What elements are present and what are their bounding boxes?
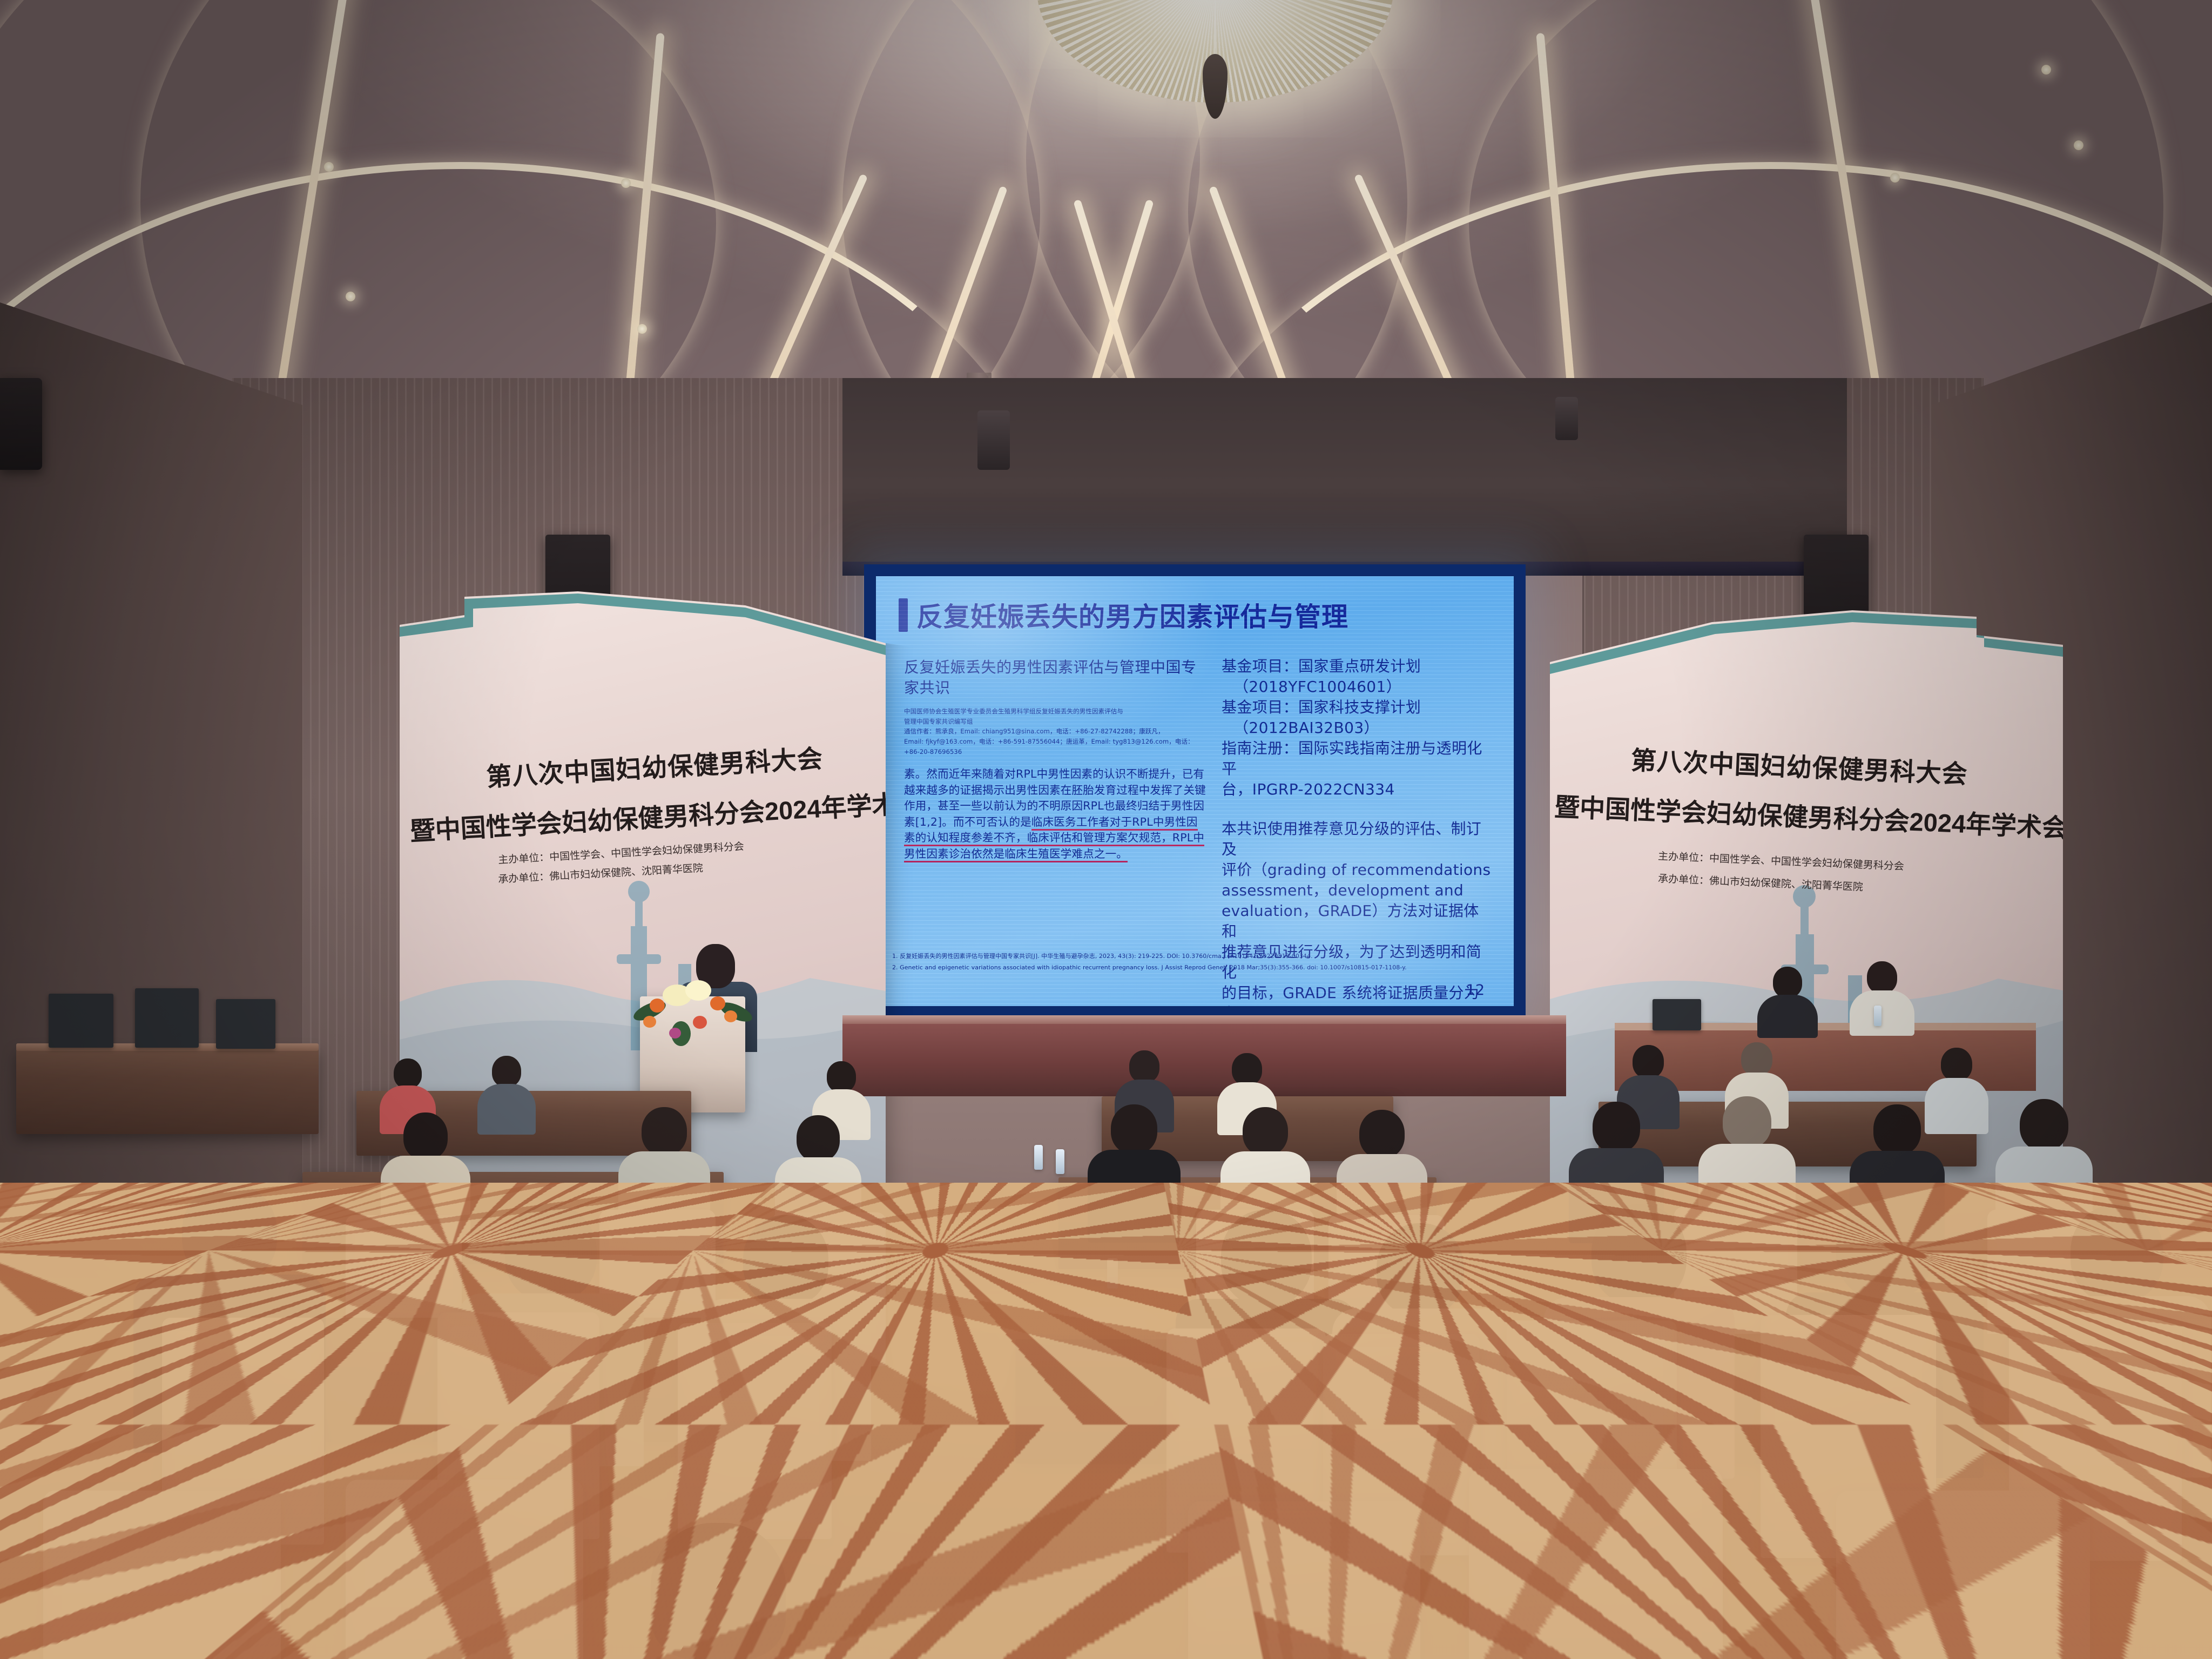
chandelier-pendant-drop (1203, 54, 1228, 119)
flower-bloom (693, 1016, 707, 1029)
flower-bloom (710, 996, 725, 1010)
grade-line: assessment，development and (1222, 880, 1492, 901)
head (1221, 1210, 1312, 1306)
water-bottle (1874, 1006, 1881, 1026)
head (1941, 1048, 1972, 1081)
presentation-slide: 反复妊娠丢失的男方因素评估与管理 反复妊娠丢失的男性因素评估与管理中国专家共识 … (876, 576, 1514, 1006)
flower-bloom (643, 1016, 656, 1028)
chair-foreground[interactable] (1188, 1501, 1420, 1659)
stage-edge (842, 1015, 1566, 1024)
affiliation-line: +86-20-87696536 (904, 747, 1206, 757)
chairperson (1847, 961, 1917, 1031)
affiliation-block: 中国医师协会生殖医学专业委员会生殖男科学组反复妊娠丢失的男性因素评估与 管理中国… (904, 706, 1206, 757)
ceiling-downlight (2041, 65, 2051, 75)
head (797, 1115, 840, 1162)
slide-left-column: 反复妊娠丢失的男性因素评估与管理中国专家共识 中国医师协会生殖医学专业委员会生殖… (904, 657, 1206, 862)
head (1836, 1196, 1933, 1300)
head (1232, 1053, 1262, 1085)
reference-item: 1. 反复妊娠丢失的男性因素评估与管理中国专家共识[J]. 中华生殖与避孕杂志,… (892, 951, 1497, 962)
stage-platform (842, 1015, 1566, 1096)
funding-line: 基金项目：国家科技支撑计划 (1222, 697, 1492, 718)
head (1873, 1104, 1921, 1155)
head (182, 1183, 277, 1283)
stage-soffit (842, 378, 1847, 572)
laptop (49, 994, 113, 1048)
slide-title-row: 反复妊娠丢失的男方因素评估与管理 (899, 596, 1348, 634)
reference-item: 2. Genetic and epigenetic variations ass… (892, 962, 1497, 974)
audience-member-closest (605, 1523, 832, 1659)
laptop (135, 988, 199, 1048)
chair-foreground[interactable] (1469, 1469, 1723, 1659)
head (1377, 1223, 1464, 1316)
water-bottle (1034, 1145, 1043, 1170)
head (394, 1058, 422, 1089)
torso (1088, 1150, 1181, 1243)
head (1129, 1050, 1159, 1083)
water-bottle (1107, 1258, 1118, 1289)
consensus-heading: 反复妊娠丢失的男性因素评估与管理中国专家共识 (904, 657, 1206, 698)
affiliation-line: Email: fjkyf@163.com，电话：+86-591-87556044… (904, 737, 1206, 747)
head (1593, 1102, 1640, 1152)
registration-line: 台，IPGRP-2022CN334 (1222, 779, 1492, 800)
head (651, 1523, 786, 1659)
head (1111, 1104, 1157, 1154)
ceiling-downlight (1890, 173, 1900, 183)
chairperson-head (1867, 961, 1897, 994)
head (743, 1215, 828, 1306)
head (505, 1204, 597, 1301)
grade-line: 的目标，GRADE 系统将证据质量分为高 (1222, 983, 1492, 1006)
flower-bloom (685, 980, 711, 1001)
head (1741, 1042, 1772, 1076)
audience-member (1085, 1104, 1183, 1237)
grade-line: 评价（grading of recommendations (1222, 860, 1492, 880)
head (1243, 1107, 1288, 1156)
torso (477, 1084, 536, 1135)
ceiling-downlight (324, 162, 334, 172)
water-bottle (1056, 1149, 1064, 1174)
flower-bloom (669, 1028, 681, 1038)
head (403, 1112, 448, 1160)
consensus-body-text: 素。然而近年来随着对RPL中男性因素的认识不断提升，已有越来越多的证据揭示出男性… (904, 766, 1206, 862)
title-accent-bar (899, 598, 908, 632)
slide-page-number: 12 (1466, 982, 1485, 999)
name-card (1653, 999, 1701, 1030)
chairperson (1755, 967, 1820, 1031)
slide-title: 反复妊娠丢失的男方因素评估与管理 (916, 596, 1348, 634)
head (1633, 1045, 1664, 1078)
chair[interactable] (678, 1323, 832, 1539)
funding-line: （2018YFC1004601） (1222, 677, 1492, 697)
ceiling-downlight (346, 292, 355, 301)
head (1723, 1096, 1771, 1148)
registration-line: 指南注册：国际实践指南注册与透明化平 (1222, 738, 1492, 779)
head (1359, 1110, 1405, 1158)
head (492, 1056, 521, 1087)
head (2020, 1099, 2068, 1151)
affiliation-line: 通信作者：熊承良，Email: chiang951@sina.com，电话：+8… (904, 726, 1206, 737)
monitor (216, 999, 275, 1049)
chairperson-head (1773, 967, 1802, 998)
projection-screen: 反复妊娠丢失的男方因素评估与管理 反复妊娠丢失的男性因素评估与管理中国专家共识 … (864, 564, 1526, 1018)
head (1591, 1204, 1687, 1305)
affiliation-line: 中国医师协会生殖医学专业委员会生殖男科学组反复妊娠丢失的男性因素评估与 (904, 706, 1206, 717)
grade-line: evaluation，GRADE）方法对证据体和 (1222, 901, 1492, 942)
grade-line: 本共识使用推荐意见分级的评估、制订及 (1222, 819, 1492, 860)
flower-bloom (650, 999, 665, 1013)
grade-paragraph: 本共识使用推荐意见分级的评估、制订及 评价（grading of recomme… (1222, 819, 1492, 1006)
head (827, 1061, 856, 1092)
affiliation-line: 管理中国专家共识编写组 (904, 717, 1206, 727)
tech-table (16, 1048, 319, 1134)
hanging-microphone (977, 410, 1010, 470)
slide-references: 1. 反复妊娠丢失的男性因素评估与管理中国专家共识[J]. 中华生殖与避孕杂志,… (892, 951, 1497, 974)
funding-line: （2012BAI32B03） (1222, 718, 1492, 738)
head (2071, 1204, 2163, 1303)
ceiling-downlight (637, 324, 647, 334)
chandelier (1037, 0, 1393, 130)
chair-foreground[interactable] (1836, 1491, 2090, 1659)
chairperson-body (1757, 995, 1818, 1038)
ceiling-downlight (2074, 140, 2083, 150)
conference-hall-scene: 反复妊娠丢失的男方因素评估与管理 反复妊娠丢失的男性因素评估与管理中国专家共识 … (0, 0, 2212, 1659)
chair-foreground[interactable] (346, 1480, 583, 1659)
pa-speaker-far-left (0, 378, 42, 470)
ceiling-projector-mount (1555, 397, 1578, 440)
podium-flower-arrangement (629, 975, 756, 1048)
funding-line: 基金项目：国家重点研发计划 (1222, 656, 1492, 677)
chair-foreground[interactable] (43, 1491, 281, 1659)
chairperson-body (1850, 990, 1914, 1036)
flower-bloom (724, 1010, 737, 1022)
ceiling-downlight (621, 178, 631, 188)
audience-member (475, 1056, 537, 1129)
head (642, 1107, 687, 1156)
